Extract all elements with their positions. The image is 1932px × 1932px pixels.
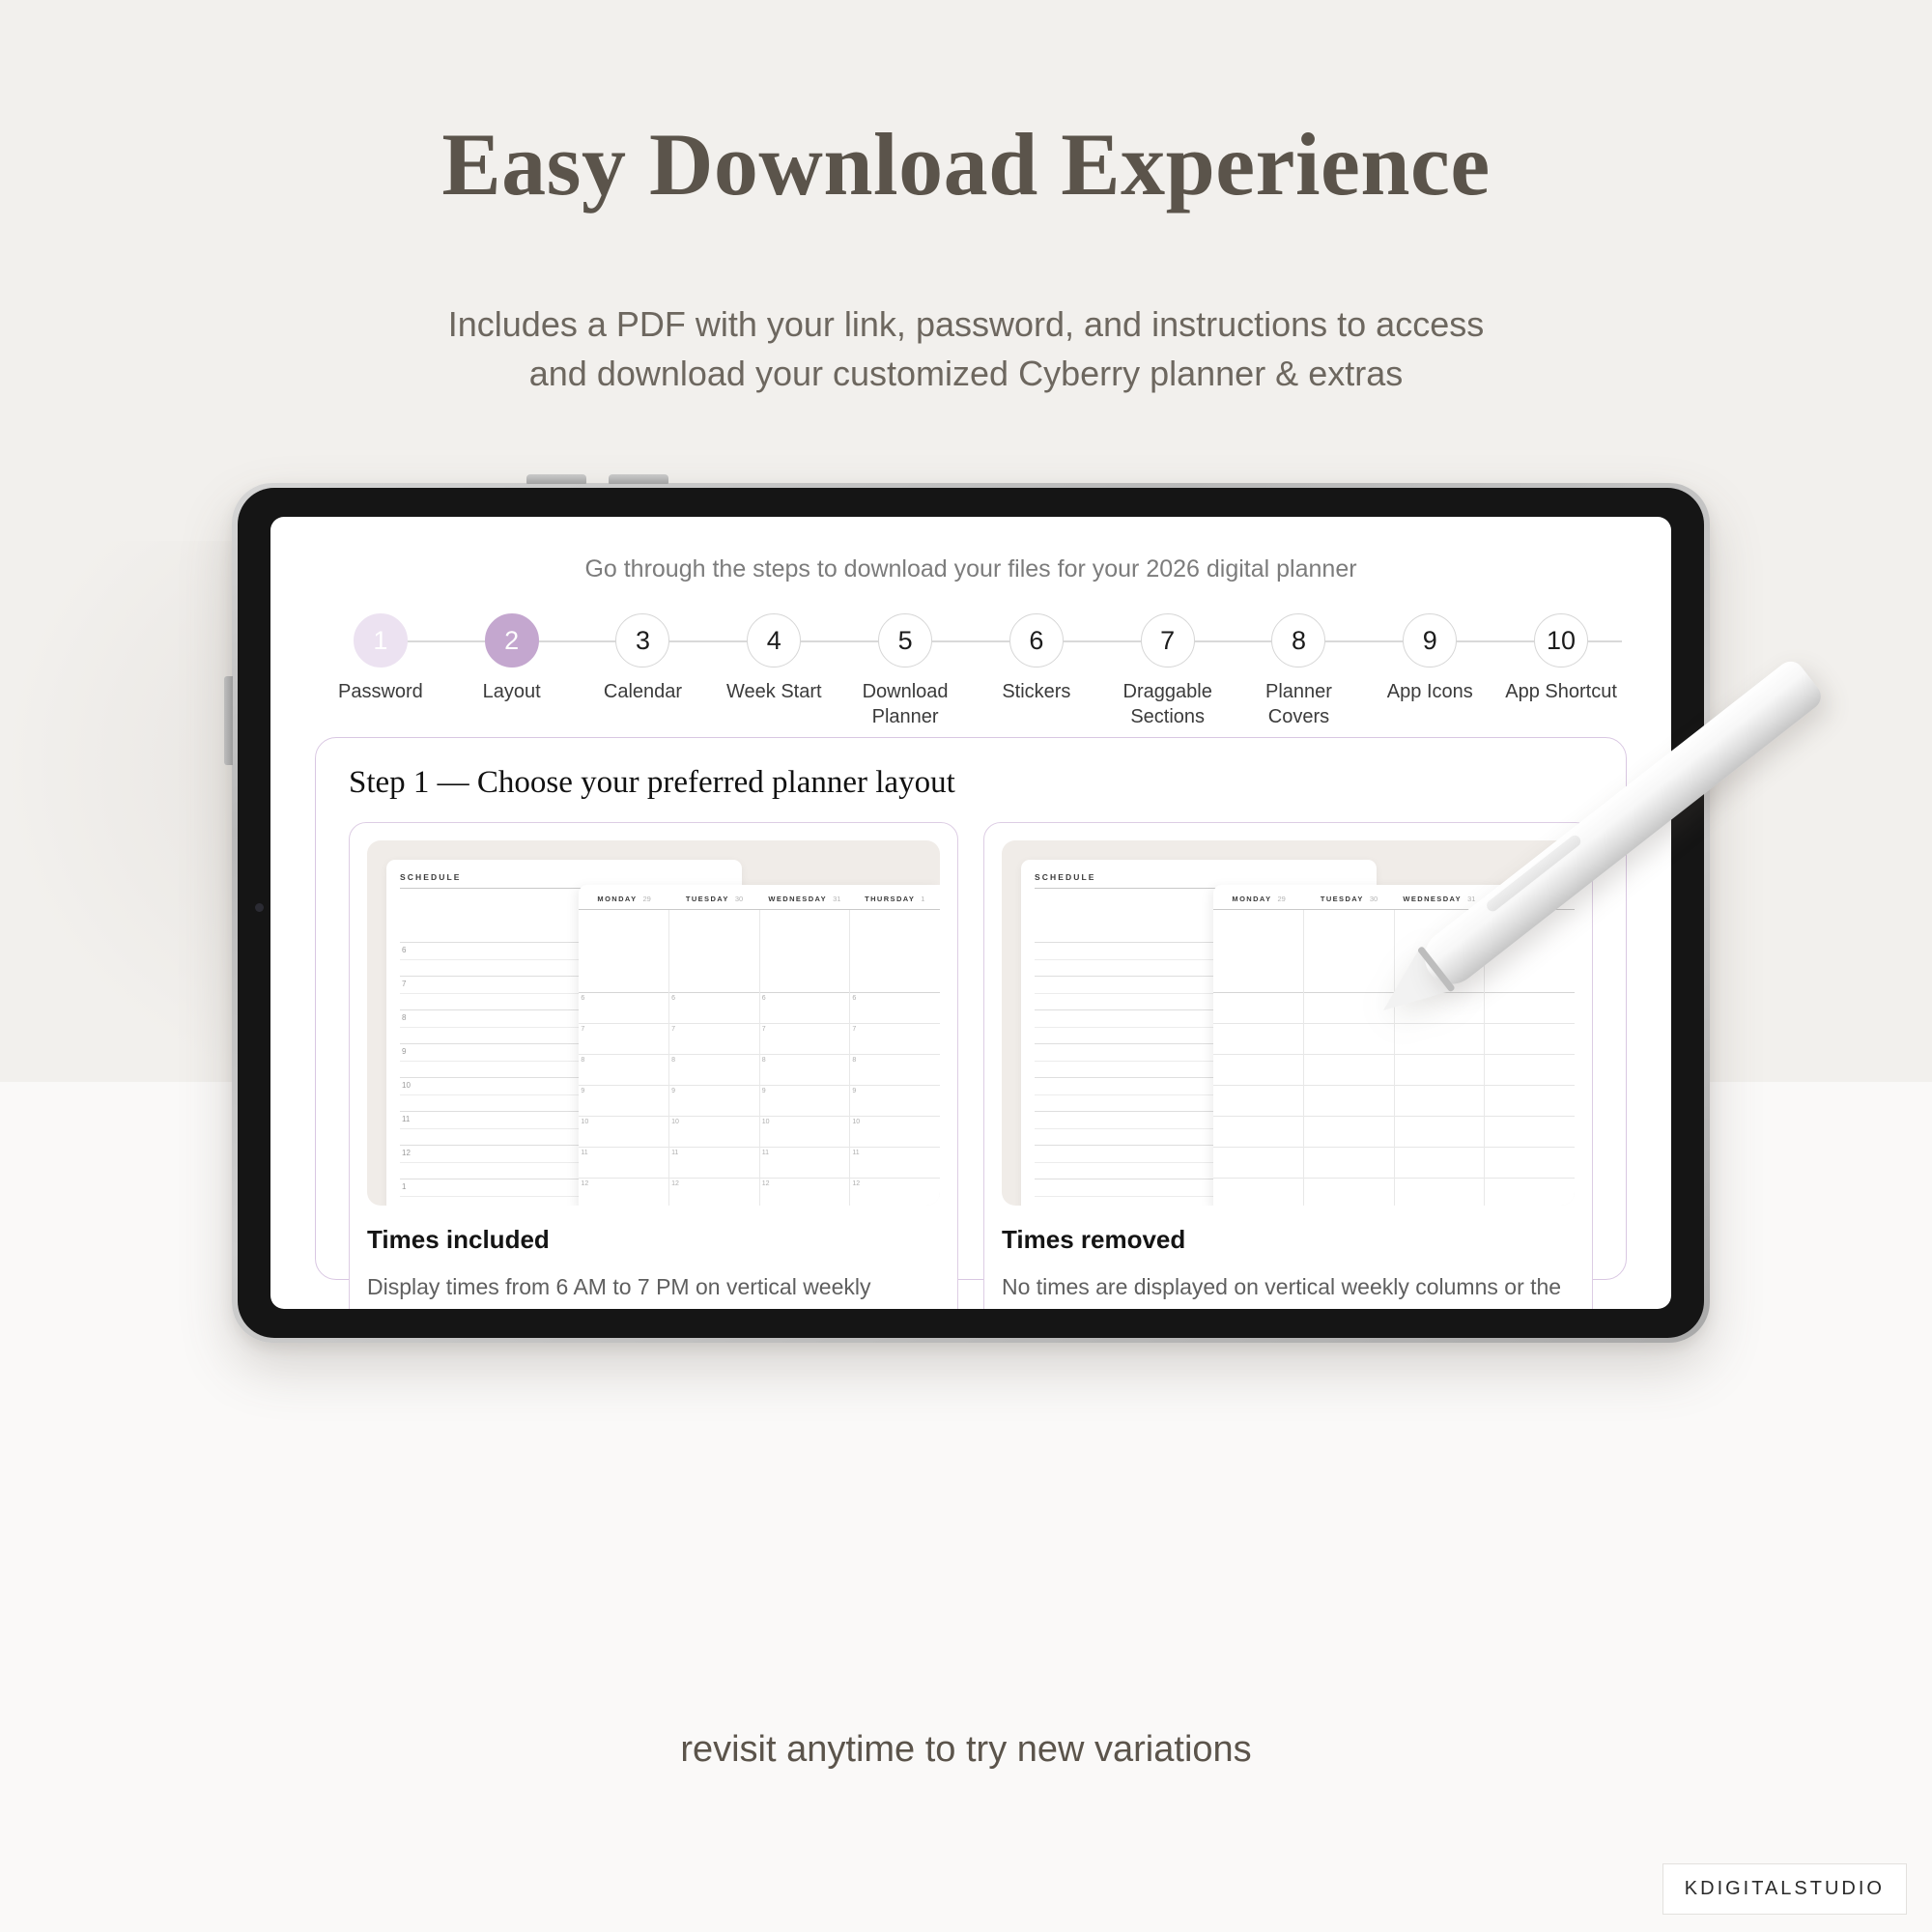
weekly-day-header: WEDNESDAY31 <box>759 895 849 903</box>
weekly-day-header: MONDAY29 <box>1213 895 1303 903</box>
step-item-app-shortcut[interactable]: 10App Shortcut <box>1495 613 1627 705</box>
step-circle-8[interactable]: 8 <box>1271 613 1325 668</box>
weekly-hour-label: 10 <box>852 1119 860 1125</box>
weekly-allday-area <box>669 910 759 993</box>
weekly-hour-slot: 7 <box>669 1024 759 1055</box>
step-label-9: App Icons <box>1387 680 1473 705</box>
weekly-hour-slot <box>1395 1179 1485 1206</box>
step-label-6: Stickers <box>1002 680 1070 705</box>
weekly-columns <box>1213 910 1575 1206</box>
weekly-day-date: 30 <box>1370 895 1378 903</box>
weekly-day-header: THURSDAY1 <box>850 895 940 903</box>
weekly-hour-slot <box>1213 1117 1303 1148</box>
layout-preview-image: SCHEDULEMONDAY29TUESDAY30WEDNESDAY31THUR… <box>1002 840 1575 1206</box>
weekly-day-date: 1 <box>1555 895 1559 903</box>
weekly-hour-slot: 7 <box>579 1024 668 1055</box>
weekly-column: 6789101112 <box>669 910 760 1206</box>
weekly-hour-label: 9 <box>671 1088 675 1094</box>
tablet-bezel: Go through the steps to download your fi… <box>238 488 1704 1338</box>
weekly-hour-slot <box>1395 1086 1485 1117</box>
weekly-day-header: MONDAY29 <box>579 895 668 903</box>
weekly-hour-slot: 11 <box>850 1148 940 1179</box>
weekly-hour-slot: 12 <box>760 1179 850 1206</box>
step-circle-7[interactable]: 7 <box>1141 613 1195 668</box>
weekly-day-date: 29 <box>642 895 650 903</box>
weekly-column: 6789101112 <box>760 910 851 1206</box>
layout-option-card[interactable]: SCHEDULE67891011121234MONDAY29TUESDAY30W… <box>349 822 958 1309</box>
step-item-stickers[interactable]: 6Stickers <box>971 613 1102 705</box>
page-subtitle: Includes a PDF with your link, password,… <box>328 299 1604 398</box>
weekly-hour-slot: 12 <box>579 1179 668 1206</box>
weekly-day-name: TUESDAY <box>1321 895 1364 903</box>
weekly-allday-area <box>1304 910 1394 993</box>
layout-options: SCHEDULE67891011121234MONDAY29TUESDAY30W… <box>349 822 1593 1309</box>
step-panel: Step 1 — Choose your preferred planner l… <box>315 737 1627 1280</box>
page-subtitle-line-1: Includes a PDF with your link, password,… <box>328 299 1604 349</box>
step-label-5: Download Planner <box>839 680 971 729</box>
weekly-hour-label: 8 <box>671 1057 675 1064</box>
weekly-hour-label: 12 <box>581 1180 588 1187</box>
weekly-hour-label: 9 <box>581 1088 584 1094</box>
daily-hour-label: 11 <box>402 1115 410 1123</box>
weekly-hour-slot: 7 <box>760 1024 850 1055</box>
step-circle-3[interactable]: 3 <box>615 613 669 668</box>
weekly-hour-slot <box>1213 1024 1303 1055</box>
weekly-hour-label: 8 <box>581 1057 584 1064</box>
weekly-allday-area <box>760 910 850 993</box>
front-camera-icon <box>255 903 264 912</box>
weekly-hour-slot: 11 <box>669 1148 759 1179</box>
weekly-hour-slot: 12 <box>850 1179 940 1206</box>
power-button[interactable] <box>224 676 233 765</box>
daily-hour-label: 8 <box>402 1013 406 1022</box>
step-panel-title: Step 1 — Choose your preferred planner l… <box>349 765 1593 801</box>
weekly-hour-label: 11 <box>762 1150 769 1156</box>
weekly-column: 6789101112 <box>579 910 669 1206</box>
page-subtitle-line-2: and download your customized Cyberry pla… <box>328 349 1604 398</box>
weekly-hour-slot: 6 <box>760 993 850 1024</box>
weekly-hour-slot: 11 <box>579 1148 668 1179</box>
weekly-hour-slot: 6 <box>850 993 940 1024</box>
step-label-2: Layout <box>483 680 541 705</box>
step-label-7: Draggable Sections <box>1102 680 1234 729</box>
weekly-hour-slot <box>1485 1117 1575 1148</box>
layout-option-title: Times removed <box>1002 1225 1575 1255</box>
step-progress-bar: 1Password2Layout3Calendar4Week Start5Dow… <box>315 613 1627 729</box>
weekly-hour-label: 7 <box>671 1026 675 1033</box>
step-item-planner-covers[interactable]: 8Planner Covers <box>1234 613 1365 729</box>
weekly-hour-slot <box>1304 1117 1394 1148</box>
weekly-hour-slot <box>1395 1024 1485 1055</box>
step-item-week-start[interactable]: 4Week Start <box>708 613 839 705</box>
weekly-hour-label: 9 <box>762 1088 766 1094</box>
weekly-hour-slot: 6 <box>579 993 668 1024</box>
weekly-day-date: 1 <box>921 895 924 903</box>
weekly-column <box>1213 910 1304 1206</box>
footer-note: revisit anytime to try new variations <box>0 1729 1932 1771</box>
weekly-hour-label: 12 <box>671 1180 679 1187</box>
step-item-password[interactable]: 1Password <box>315 613 446 705</box>
weekly-hour-slot: 10 <box>760 1117 850 1148</box>
weekly-hour-label: 11 <box>852 1150 859 1156</box>
page-title: Easy Download Experience <box>0 118 1932 212</box>
weekly-hour-slot <box>1304 1024 1394 1055</box>
weekly-hour-slot <box>1485 993 1575 1024</box>
app-intro-text: Go through the steps to download your fi… <box>270 555 1671 583</box>
weekly-hour-slot: 7 <box>850 1024 940 1055</box>
weekly-hour-slot <box>1485 1024 1575 1055</box>
weekly-hour-slot <box>1213 1055 1303 1086</box>
layout-option-description: No times are displayed on vertical weekl… <box>1002 1270 1575 1309</box>
weekly-hour-slot <box>1395 1148 1485 1179</box>
weekly-hour-slot <box>1485 1086 1575 1117</box>
weekly-day-name: MONDAY <box>1232 895 1271 903</box>
weekly-hour-label: 6 <box>762 995 766 1002</box>
weekly-allday-area <box>1395 910 1485 993</box>
weekly-hour-label: 6 <box>852 995 856 1002</box>
daily-hour-label: 9 <box>402 1047 406 1056</box>
weekly-hour-slot <box>1213 1179 1303 1206</box>
weekly-day-name: MONDAY <box>597 895 637 903</box>
weekly-day-header: TUESDAY30 <box>1304 895 1394 903</box>
weekly-hour-slot: 6 <box>669 993 759 1024</box>
weekly-day-date: 31 <box>1467 895 1475 903</box>
weekly-hour-label: 8 <box>852 1057 856 1064</box>
weekly-hour-slot <box>1395 1055 1485 1086</box>
step-circle-9[interactable]: 9 <box>1403 613 1457 668</box>
weekly-column: 6789101112 <box>850 910 940 1206</box>
weekly-columns: 6789101112678910111267891011126789101112 <box>579 910 940 1206</box>
weekly-page-preview: MONDAY29TUESDAY30WEDNESDAY31THURSDAY1678… <box>579 885 940 1206</box>
weekly-hour-slot <box>1485 1148 1575 1179</box>
weekly-hour-slot: 9 <box>579 1086 668 1117</box>
weekly-page-preview: MONDAY29TUESDAY30WEDNESDAY31THURSDAY1 <box>1213 885 1575 1206</box>
weekly-day-date: 29 <box>1277 895 1285 903</box>
step-item-download-planner[interactable]: 5Download Planner <box>839 613 971 729</box>
weekly-hour-slot <box>1213 1148 1303 1179</box>
weekly-hour-slot: 10 <box>669 1117 759 1148</box>
tablet-screen: Go through the steps to download your fi… <box>270 517 1671 1309</box>
weekly-hour-label: 11 <box>671 1150 678 1156</box>
step-label-8: Planner Covers <box>1234 680 1365 729</box>
step-label-10: App Shortcut <box>1505 680 1617 705</box>
daily-hour-label: 6 <box>402 946 406 954</box>
layout-option-description: Display times from 6 AM to 7 PM on verti… <box>367 1270 940 1309</box>
weekly-hour-slot: 9 <box>669 1086 759 1117</box>
weekly-hour-slot <box>1395 993 1485 1024</box>
weekly-hour-label: 10 <box>581 1119 588 1125</box>
daily-hour-label: 12 <box>402 1149 411 1157</box>
weekly-hour-slot: 8 <box>850 1055 940 1086</box>
weekly-hour-label: 7 <box>852 1026 856 1033</box>
daily-hour-label: 10 <box>402 1081 411 1090</box>
promo-page: Easy Download Experience Includes a PDF … <box>0 0 1932 1932</box>
weekly-day-name: WEDNESDAY <box>1403 895 1462 903</box>
weekly-hour-slot <box>1304 1055 1394 1086</box>
weekly-day-date: 30 <box>735 895 743 903</box>
weekly-hour-label: 6 <box>581 995 584 1002</box>
step-circle-10[interactable]: 10 <box>1534 613 1588 668</box>
daily-hour-label: 1 <box>402 1182 406 1191</box>
weekly-day-name: THURSDAY <box>1499 895 1549 903</box>
weekly-hour-label: 11 <box>581 1150 587 1156</box>
layout-option-title: Times included <box>367 1225 940 1255</box>
weekly-hour-label: 8 <box>762 1057 766 1064</box>
volume-up-button[interactable] <box>526 474 586 484</box>
weekly-hour-slot <box>1213 993 1303 1024</box>
weekly-day-header: THURSDAY1 <box>1485 895 1575 903</box>
weekly-hour-slot <box>1304 1148 1394 1179</box>
weekly-hour-slot <box>1395 1117 1485 1148</box>
weekly-hour-slot <box>1304 1086 1394 1117</box>
step-circle-6[interactable]: 6 <box>1009 613 1064 668</box>
step-label-4: Week Start <box>726 680 822 705</box>
volume-down-button[interactable] <box>609 474 668 484</box>
weekly-header-row: MONDAY29TUESDAY30WEDNESDAY31THURSDAY1 <box>579 885 940 910</box>
weekly-hour-slot <box>1304 1179 1394 1206</box>
weekly-day-header: TUESDAY30 <box>669 895 759 903</box>
weekly-day-name: WEDNESDAY <box>768 895 827 903</box>
weekly-hour-slot: 9 <box>760 1086 850 1117</box>
weekly-hour-slot: 10 <box>850 1117 940 1148</box>
weekly-hour-slot: 11 <box>760 1148 850 1179</box>
step-label-1: Password <box>338 680 423 705</box>
layout-preview-image: SCHEDULE67891011121234MONDAY29TUESDAY30W… <box>367 840 940 1206</box>
weekly-hour-slot: 8 <box>669 1055 759 1086</box>
weekly-allday-area <box>579 910 668 993</box>
weekly-hour-slot: 10 <box>579 1117 668 1148</box>
daily-hour-label: 7 <box>402 980 406 988</box>
weekly-hour-slot <box>1485 1055 1575 1086</box>
step-circle-5[interactable]: 5 <box>878 613 932 668</box>
weekly-hour-slot: 12 <box>669 1179 759 1206</box>
step-item-layout[interactable]: 2Layout <box>446 613 578 705</box>
weekly-column <box>1304 910 1395 1206</box>
weekly-hour-label: 10 <box>671 1119 679 1125</box>
weekly-hour-slot <box>1213 1086 1303 1117</box>
step-item-draggable-sections[interactable]: 7Draggable Sections <box>1102 613 1234 729</box>
weekly-hour-slot <box>1304 993 1394 1024</box>
weekly-hour-slot <box>1485 1179 1575 1206</box>
watermark: KDIGITALSTUDIO <box>1662 1863 1907 1915</box>
weekly-hour-slot: 8 <box>760 1055 850 1086</box>
step-circle-1[interactable]: 1 <box>354 613 408 668</box>
weekly-column <box>1485 910 1575 1206</box>
weekly-allday-area <box>1485 910 1575 993</box>
weekly-hour-slot: 8 <box>579 1055 668 1086</box>
weekly-day-name: TUESDAY <box>686 895 729 903</box>
weekly-hour-label: 9 <box>852 1088 856 1094</box>
tablet-device: Go through the steps to download your fi… <box>232 483 1710 1343</box>
weekly-hour-label: 12 <box>852 1180 860 1187</box>
layout-option-card[interactable]: SCHEDULEMONDAY29TUESDAY30WEDNESDAY31THUR… <box>983 822 1593 1309</box>
weekly-hour-label: 12 <box>762 1180 770 1187</box>
weekly-hour-label: 6 <box>671 995 675 1002</box>
weekly-day-date: 31 <box>833 895 840 903</box>
step-label-3: Calendar <box>604 680 682 705</box>
weekly-allday-area <box>850 910 940 993</box>
weekly-hour-label: 7 <box>581 1026 584 1033</box>
weekly-day-name: THURSDAY <box>865 895 915 903</box>
weekly-hour-label: 10 <box>762 1119 770 1125</box>
weekly-header-row: MONDAY29TUESDAY30WEDNESDAY31THURSDAY1 <box>1213 885 1575 910</box>
step-item-calendar[interactable]: 3Calendar <box>578 613 709 705</box>
weekly-column <box>1395 910 1486 1206</box>
weekly-allday-area <box>1213 910 1303 993</box>
step-item-app-icons[interactable]: 9App Icons <box>1364 613 1495 705</box>
step-circle-2[interactable]: 2 <box>485 613 539 668</box>
weekly-hour-label: 7 <box>762 1026 766 1033</box>
weekly-day-header: WEDNESDAY31 <box>1394 895 1484 903</box>
weekly-hour-slot: 9 <box>850 1086 940 1117</box>
step-circle-4[interactable]: 4 <box>747 613 801 668</box>
